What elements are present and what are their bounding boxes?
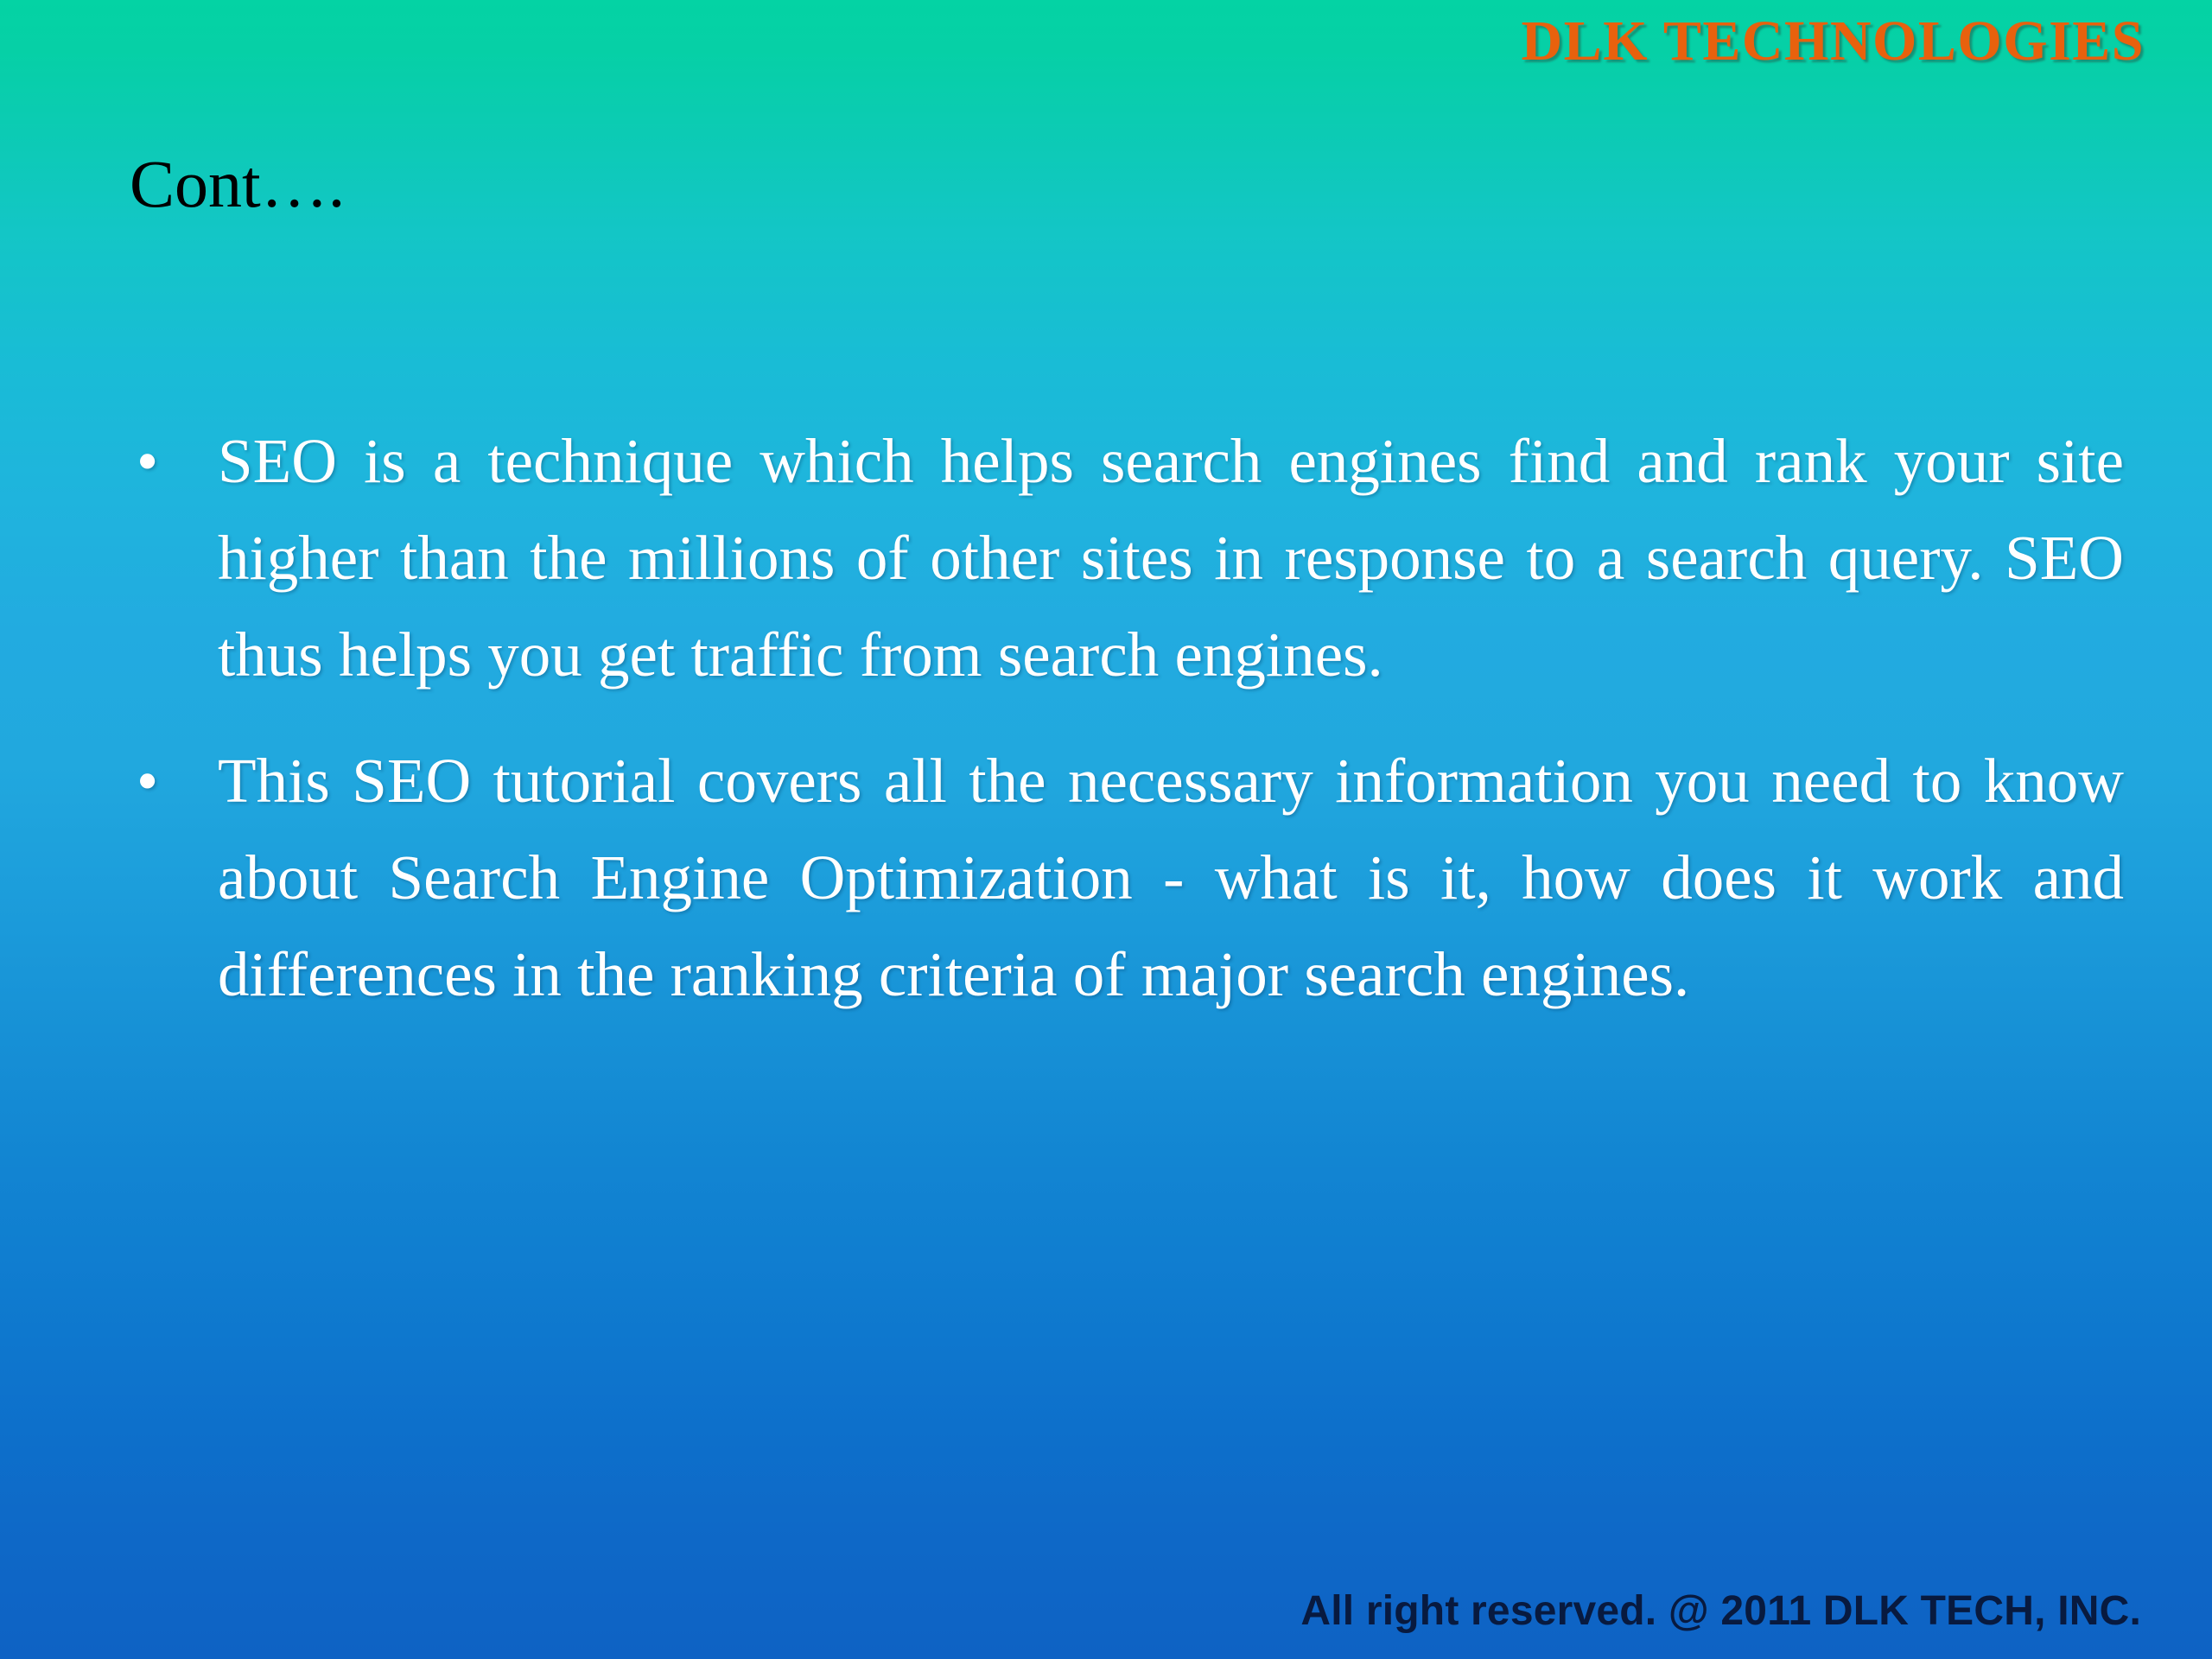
slide-body: • SEO is a technique which helps search … [128,413,2124,1023]
list-item: • This SEO tutorial covers all the neces… [128,733,2124,1023]
slide-header: DLK TECHNOLOGIES [0,0,2212,83]
page-title: Cont…. [130,149,345,219]
bullet-point-icon: • [128,413,218,510]
list-item: • SEO is a technique which helps search … [128,413,2124,703]
bullet-text-seo-definition: SEO is a technique which helps search en… [218,413,2124,703]
presentation-slide: DLK TECHNOLOGIES Cont…. • SEO is a techn… [0,0,2212,1659]
slide-footer: All right reserved. @ 2011 DLK TECH, INC… [0,1589,2212,1635]
bullet-text-tutorial-scope: This SEO tutorial covers all the necessa… [218,733,2124,1023]
copyright-notice: All right reserved. @ 2011 DLK TECH, INC… [1300,1589,2141,1635]
company-name-heading: DLK TECHNOLOGIES [1522,13,2145,70]
bullet-point-icon: • [128,733,218,829]
